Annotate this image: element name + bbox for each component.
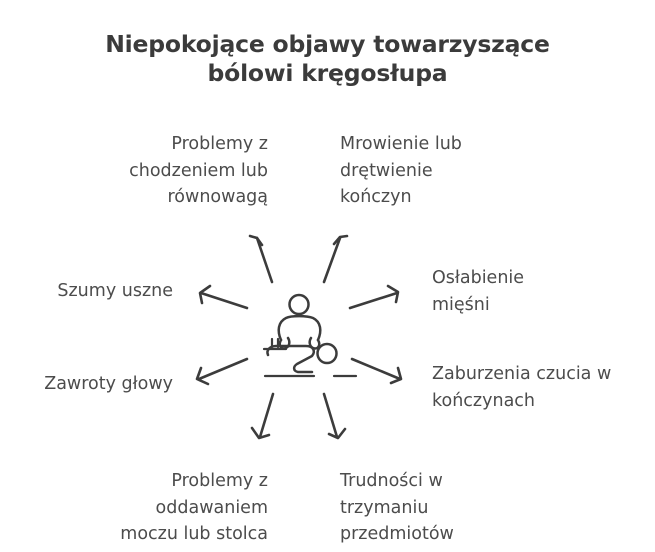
arrow-down-right	[324, 394, 345, 438]
infographic-root: Niepokojące objawy towarzyszące bólowi k…	[0, 0, 655, 552]
symptom-label-dizziness: Zawroty głowy	[18, 371, 173, 398]
page-title: Niepokojące objawy towarzyszące bólowi k…	[0, 30, 655, 88]
arrow-up-right	[324, 236, 347, 282]
symptom-label-walking: Problemy z chodzeniem lub równowagą	[100, 131, 268, 211]
symptom-label-weakness: Osłabienie mięśni	[432, 265, 622, 318]
arrow-down-left	[252, 394, 273, 438]
symptom-label-tingling: Mrowienie lub drętwienie kończyn	[340, 131, 520, 211]
symptom-label-grip: Trudności w trzymaniu przedmiotów	[340, 468, 520, 548]
symptom-label-urination: Problemy z oddawaniem moczu lub stolca	[92, 468, 268, 548]
arrow-right-upper	[350, 286, 398, 308]
arrow-right-lower	[352, 359, 401, 383]
arrow-up-left	[250, 236, 272, 282]
arrow-left-lower	[197, 359, 247, 384]
symptom-label-tinnitus: Szumy uszne	[28, 278, 173, 305]
massage-therapy-icon	[264, 295, 356, 376]
symptom-label-sensory: Zaburzenia czucia w kończynach	[432, 361, 637, 414]
arrow-left-upper	[200, 286, 247, 308]
